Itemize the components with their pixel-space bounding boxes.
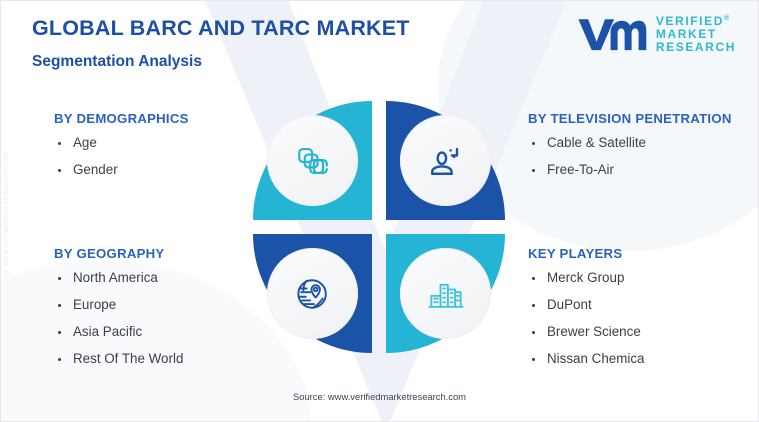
segment-block-television-penetration: BY TELEVISION PENETRATION Cable & Satell… xyxy=(528,111,732,177)
list-item: Merck Group xyxy=(528,270,645,285)
logo-line-research: RESEARCH xyxy=(656,41,736,54)
list-item: Gender xyxy=(54,162,189,177)
segment-block-key-players: KEY PLAYERS Merck Group DuPont Brewer Sc… xyxy=(528,246,645,366)
vmr-logo-icon xyxy=(577,15,647,53)
segment-heading-demographics: BY DEMOGRAPHICS xyxy=(54,111,189,126)
globe-location-pin-icon xyxy=(291,272,335,316)
logo-line-verified: VERIFIED® xyxy=(656,15,736,28)
stacked-layers-icon xyxy=(291,139,335,183)
segment-heading-key-players: KEY PLAYERS xyxy=(528,246,645,261)
source-caption: Source: www.verifiedmarketresearch.com xyxy=(1,391,758,402)
list-item: DuPont xyxy=(528,297,645,312)
quadrant-icon-disc xyxy=(267,248,358,339)
list-item: Asia Pacific xyxy=(54,324,183,339)
quadrant-television-penetration xyxy=(386,101,505,220)
list-item: Cable & Satellite xyxy=(528,135,732,150)
page-title: GLOBAL BARC AND TARC MARKET xyxy=(32,16,410,41)
quadrant-icon-disc xyxy=(400,115,491,206)
list-item: Nissan Chemica xyxy=(528,351,645,366)
city-buildings-icon xyxy=(424,272,468,316)
infographic-canvas: © www.verifiedmarketresearch.com GLOBAL … xyxy=(0,0,759,422)
quadrant-key-players xyxy=(386,234,505,353)
list-item: Free-To-Air xyxy=(528,162,732,177)
list-item: Brewer Science xyxy=(528,324,645,339)
side-copyright-watermark: © www.verifiedmarketresearch.com xyxy=(3,151,10,276)
segment-block-demographics: BY DEMOGRAPHICS Age Gender xyxy=(54,111,189,177)
quadrant-geography xyxy=(253,234,372,353)
segment-list-key-players: Merck Group DuPont Brewer Science Nissan… xyxy=(528,270,645,366)
quadrant-demographics xyxy=(253,101,372,220)
logo-wordmark: VERIFIED® MARKET RESEARCH xyxy=(656,15,736,54)
brand-logo: VERIFIED® MARKET RESEARCH xyxy=(577,15,736,54)
segment-list-television-penetration: Cable & Satellite Free-To-Air xyxy=(528,135,732,177)
page-subtitle: Segmentation Analysis xyxy=(32,53,202,71)
segment-block-geography: BY GEOGRAPHY North America Europe Asia P… xyxy=(54,246,183,366)
segment-list-demographics: Age Gender xyxy=(54,135,189,177)
list-item: Age xyxy=(54,135,189,150)
segment-list-geography: North America Europe Asia Pacific Rest O… xyxy=(54,270,183,366)
logo-line-market: MARKET xyxy=(656,28,736,41)
segmentation-quadrant-graphic xyxy=(253,101,505,353)
quadrant-icon-disc xyxy=(267,115,358,206)
segment-heading-television-penetration: BY TELEVISION PENETRATION xyxy=(528,111,732,126)
list-item: Europe xyxy=(54,297,183,312)
quadrant-icon-disc xyxy=(400,248,491,339)
segment-heading-geography: BY GEOGRAPHY xyxy=(54,246,183,261)
audience-person-chart-icon xyxy=(424,139,468,183)
list-item: Rest Of The World xyxy=(54,351,183,366)
list-item: North America xyxy=(54,270,183,285)
